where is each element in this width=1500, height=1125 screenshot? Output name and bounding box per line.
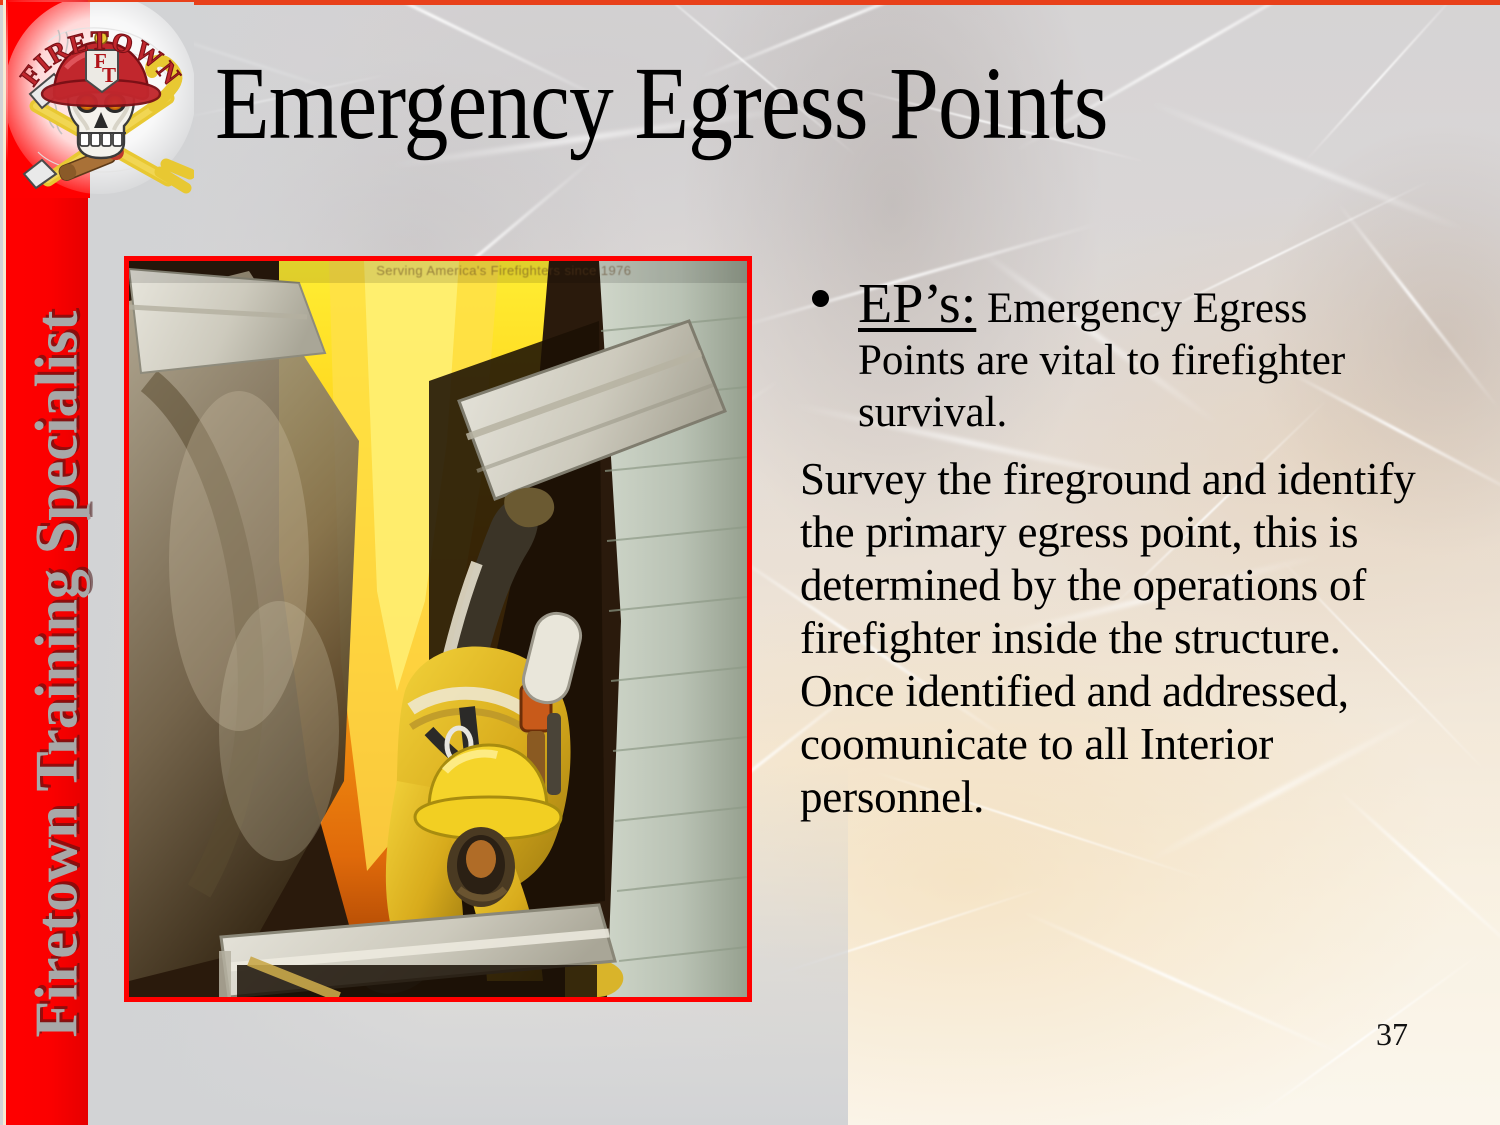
bullet-item: EP’s: Emergency Egress Points are vital … bbox=[800, 276, 1420, 439]
svg-text:T: T bbox=[102, 63, 116, 87]
firetown-logo: F T FIRETOWN bbox=[8, 2, 194, 198]
content-column: EP’s: Emergency Egress Points are vital … bbox=[800, 276, 1420, 824]
photo-canvas: Serving America's Firefighters since 197… bbox=[129, 261, 747, 997]
photo-watermark: Serving America's Firefighters since 197… bbox=[376, 263, 631, 278]
bullet-dot-icon bbox=[812, 290, 829, 307]
top-accent-rule bbox=[0, 0, 1500, 5]
bullet-lead-term: EP’s: bbox=[858, 273, 976, 335]
page-number: 37 bbox=[1376, 1016, 1408, 1053]
body-paragraph: Survey the fireground and identify the p… bbox=[800, 453, 1420, 824]
firefighter-egress-photo: Serving America's Firefighters since 197… bbox=[124, 256, 752, 1002]
page-title: Emergency Egress Points bbox=[215, 52, 1213, 156]
slide: Firetown Training Specialist bbox=[0, 0, 1500, 1125]
